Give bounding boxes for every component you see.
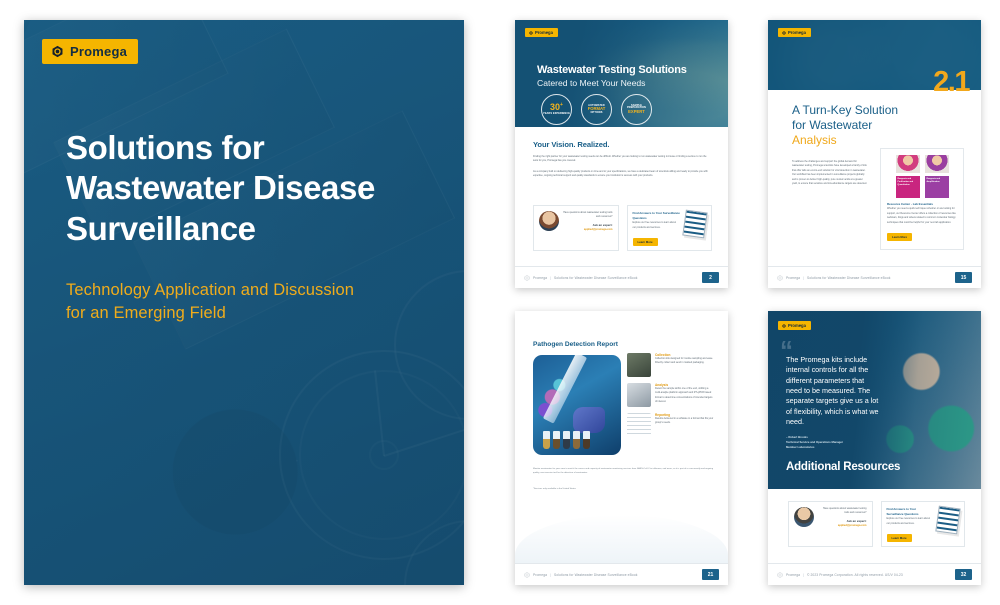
badge-years-experience: 30+ YEARS EXPERIENCE [541,94,572,125]
tube [543,431,550,449]
step-thumbnail [627,353,651,377]
page15-title-line1: A Turn-Key Solution [792,103,898,118]
footer-brand: Promega [533,573,547,577]
contact-card-body: Have questions about wastewater testing … [563,211,613,220]
page2-hero-title: Wastewater Testing Solutions [537,64,687,76]
page15-logo-text: Promega [788,30,806,35]
promega-hexagon-icon [51,45,64,58]
page2-logo-text: Promega [535,30,553,35]
page2-paragraph-2: As a company built on delivering high-qu… [533,170,712,179]
footer-separator: | [550,276,551,280]
step-reporting: Reporting Results delivered in a softwar… [627,413,714,437]
contact-card-email[interactable]: applied@promega.com [563,228,613,231]
page-number: 32 [955,569,972,580]
step-text: Reporting Results delivered in a softwar… [655,413,714,437]
resources-card-text: Find Answers to Your Surveillance Questi… [633,211,681,245]
screenshot-canvas: Promega Solutions for Wastewater Disease… [0,0,1000,605]
footer-brand: Promega [533,276,547,280]
scientist-photo-2 [925,155,949,173]
page21-title: Pathogen Detection Report [533,341,618,348]
step-body: Detect the sample within one of the end,… [655,387,714,405]
contact-card-email[interactable]: applied@promega.com [818,524,867,527]
cover-page[interactable]: Promega Solutions for Wastewater Disease… [24,20,464,585]
page2-footer: Promega | Solutions for Wastewater Disea… [515,266,728,288]
resources-card[interactable]: Find Answers to Your Surveillance Questi… [627,205,713,251]
step-thumbnail [627,383,651,407]
resource-center-card[interactable]: Reagents and Purification and Quantitati… [880,148,964,250]
chapter-number: 2.1 [933,68,969,97]
cover-text-block: Solutions for Wastewater Disease Surveil… [66,128,434,326]
cover-title: Solutions for Wastewater Disease Surveil… [66,128,434,249]
page21-note-1: Monitor wastewater for your area to enri… [533,467,714,475]
swatch-title: Reagents and Amplification [927,178,947,184]
page15-footer: Promega | Solutions for Wastewater Disea… [768,266,981,288]
promega-hexagon-icon [777,275,783,281]
thumbnail-page-2[interactable]: Promega Wastewater Testing Solutions Cat… [515,20,728,288]
page2-hero-subtitle: Catered to Meet Your Needs [537,78,645,88]
additional-resources-heading: Additional Resources [786,461,900,473]
resources-card-title: Find Answers to Your Surveillance Questi… [887,507,934,517]
learn-more-button[interactable]: Learn More [633,238,658,246]
promega-hexagon-icon [782,31,786,35]
footer-text: © 2023 Promega Corporation. All rights r… [807,573,903,577]
page32-footer: Promega | © 2023 Promega Corporation. Al… [768,563,981,585]
footer-separator: | [550,573,551,577]
step-text: Collection Collection kits designed for … [655,353,714,377]
learn-more-button[interactable]: Learn More [887,534,912,542]
footer-separator: | [803,573,804,577]
resource-card-images [887,155,957,173]
page21-note-2: *Services only available in the United S… [533,487,714,491]
swatch-amplification: Reagents and Amplification [925,176,949,198]
contact-card-text: Have questions about wastewater testing … [563,211,613,245]
step-thumbnail [627,413,651,437]
footer-text: Solutions for Wastewater Disease Surveil… [807,276,891,280]
resources-card-body: Explore our free resources to learn abou… [633,221,681,230]
badge-caption: YEARS EXPERIENCE [543,113,570,116]
tube [563,431,570,449]
gloved-hand-shape [573,407,605,433]
footer-text: Solutions for Wastewater Disease Surveil… [554,276,638,280]
badge-number: 30 [550,102,560,112]
learn-more-button[interactable]: Learn More [887,233,912,241]
badge-plus: + [560,102,563,108]
promega-logo-text: Promega [70,44,127,59]
page-number: 21 [702,569,719,580]
step-body: Collection kits designed for routine sam… [655,357,714,366]
page2-section-title: Your Vision. Realized. [533,140,712,149]
step-body: Results delivered in a software in a for… [655,417,714,426]
swatch-title: Reagents and Purification and Quantitati… [898,178,918,187]
decorative-wave [515,515,728,563]
resource-card-body: Whether you need a quick technique refre… [887,207,957,225]
avatar [539,211,559,231]
badge-line-3: EXPERT [628,110,645,114]
resources-card-text: Find Answers to Your Surveillance Questi… [887,507,934,541]
resources-card-body: Explore our free resources to learn abou… [887,517,934,526]
page15-title-line2: for Wastewater [792,118,898,133]
badge-sample-prep-expert: SAMPLE PREPARATION EXPERT [621,94,652,125]
tube [553,431,560,449]
avatar [794,507,814,527]
page-number: 15 [955,272,972,283]
footer-brand: Promega [786,573,800,577]
page15-title-line3: Analysis [792,133,898,148]
thumbnail-page-21[interactable]: Pathogen Detection Report Collection Col… [515,311,728,585]
swatch-purification: Reagents and Purification and Quantitati… [896,176,920,198]
contact-expert-card[interactable]: Have questions about wastewater testing … [788,501,873,547]
contact-card-text: Have questions about wastewater testing … [818,507,867,541]
badge-line-3: OPTIONS [591,112,603,115]
promega-logo[interactable]: Promega [42,39,138,64]
promega-hexagon-icon [529,31,533,35]
badge-automated-format: AUTOMATED FORMAT OPTIONS [581,94,612,125]
page2-card-row: Have questions about wastewater testing … [533,205,712,251]
page2-paragraph-1: Finding the right partner for your waste… [533,155,712,164]
tube [573,431,580,449]
page-number: 2 [702,272,719,283]
page2-promega-logo[interactable]: Promega [525,28,558,37]
page32-card-row: Have questions about wastewater testing … [788,501,965,547]
contact-expert-card[interactable]: Have questions about wastewater testing … [533,205,619,251]
promega-hexagon-icon [782,324,786,328]
footer-text: Solutions for Wastewater Disease Surveil… [554,573,638,577]
step-text: Analysis Detect the sample within one of… [655,383,714,407]
page2-badge-group: 30+ YEARS EXPERIENCE AUTOMATED FORMAT OP… [541,94,652,125]
sample-tubes [543,431,590,449]
page32-promega-logo[interactable]: Promega [778,321,811,330]
step-analysis: Analysis Detect the sample within one of… [627,383,714,407]
footer-separator: | [803,276,804,280]
resource-card-swatches: Reagents and Purification and Quantitati… [887,176,957,198]
page15-promega-logo[interactable]: Promega [778,28,811,37]
ebook-cover-icon [935,506,960,535]
pull-quote: The Promega kits include internal contro… [786,355,881,428]
thumbnail-page-32[interactable]: Promega “ The Promega kits include inter… [768,311,981,585]
promega-hexagon-icon [777,572,783,578]
page21-footer: Promega | Solutions for Wastewater Disea… [515,563,728,585]
quote-attribution: – Robert Brooks Technical Service and Op… [786,435,886,449]
page15-title: A Turn-Key Solution for Wastewater Analy… [792,103,898,148]
contact-card-body: Have questions about wastewater testing … [818,507,867,516]
step-collection: Collection Collection kits designed for … [627,353,714,377]
workflow-steps: Collection Collection kits designed for … [627,353,714,443]
ebook-cover-icon [682,210,707,239]
promega-hexagon-icon [524,572,530,578]
pipetting-photo [533,355,621,455]
resources-card-title: Find Answers to Your Surveillance Questi… [633,211,681,221]
cover-subtitle: Technology Application and Discussion fo… [66,279,434,326]
resources-card[interactable]: Find Answers to Your Surveillance Questi… [881,501,966,547]
promega-hexagon-icon [524,275,530,281]
footer-brand: Promega [786,276,800,280]
page15-body: To address the challenges and support th… [792,160,868,187]
thumbnail-page-15[interactable]: Promega 2.1 A Turn-Key Solution for Wast… [768,20,981,288]
tube [583,431,590,449]
page32-logo-text: Promega [788,323,806,328]
page2-content: Your Vision. Realized. Finding the right… [533,140,712,179]
scientist-photo-1 [896,155,920,173]
